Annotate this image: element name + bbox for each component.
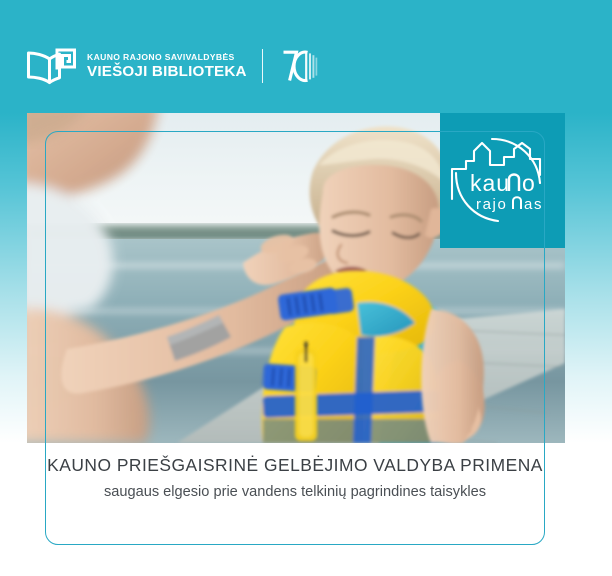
open-book-logo-icon [27, 47, 77, 85]
caption-title: KAUNO PRIEŠGAISRINĖ GELBĖJIMO VALDYBA PR… [45, 455, 545, 476]
badge-word-rajonas-a: rajo [476, 196, 507, 213]
logo-divider [262, 49, 263, 83]
caption-subtitle: saugaus elgesio prie vandens telkinių pa… [45, 484, 545, 500]
caption-block: KAUNO PRIEŠGAISRINĖ GELBĖJIMO VALDYBA PR… [45, 455, 545, 500]
library-logo-lockup: KAUNO RAJONO SAVIVALDYBĖS VIEŠOJI BIBLIO… [27, 46, 320, 86]
library-logo-text: KAUNO RAJONO SAVIVALDYBĖS VIEŠOJI BIBLIO… [87, 53, 247, 79]
anniversary-70-icon [282, 49, 320, 83]
badge-word-kauno: kau [470, 170, 510, 196]
org-name-line1: KAUNO RAJONO SAVIVALDYBĖS [87, 53, 247, 62]
badge-word-rajonas-b: as [524, 196, 543, 213]
org-name-line2: VIEŠOJI BIBLIOTEKA [87, 64, 247, 79]
badge-word-kauno-end: o [522, 170, 535, 196]
poster-root: KAUNO RAJONO SAVIVALDYBĖS VIEŠOJI BIBLIO… [0, 0, 612, 576]
kauno-rajonas-badge: kau o rajo as [440, 113, 565, 248]
